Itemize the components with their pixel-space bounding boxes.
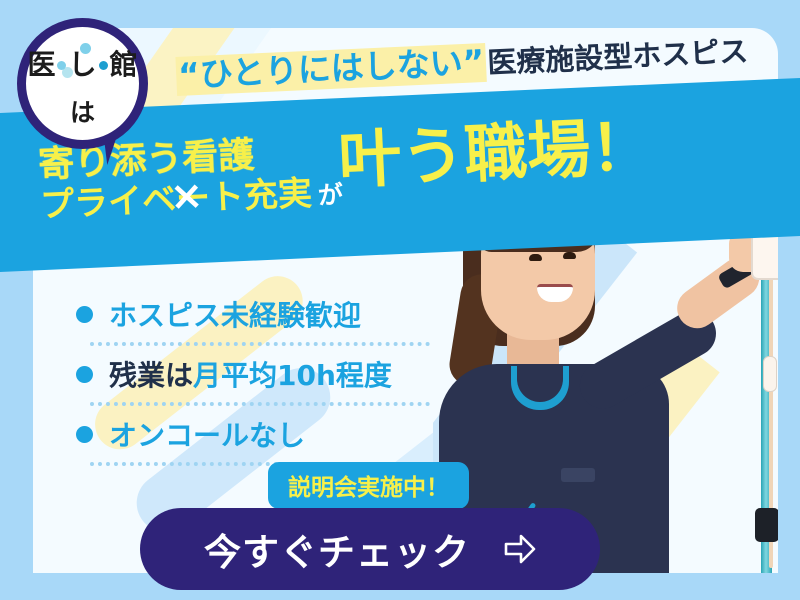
tube-tip xyxy=(699,572,724,573)
chest-pocket xyxy=(561,468,595,482)
feature-list: ホスピス未経験歓迎 残業は月平均10h程度 オンコールなし xyxy=(76,286,466,466)
list-item: オンコールなし xyxy=(76,406,466,462)
drip-chamber xyxy=(763,356,777,392)
logo-kanji-2: し xyxy=(68,51,96,79)
logo-kanji-1: 医 xyxy=(27,51,55,79)
list-item: ホスピス未経験歓迎 xyxy=(76,286,466,342)
seminar-badge: 説明会実施中！ xyxy=(268,462,469,509)
list-item-highlight: 月平均10h程度 xyxy=(193,359,392,392)
eye xyxy=(529,254,542,261)
logo-kanji-3: 館 xyxy=(110,51,138,79)
arrow-right-outline-icon xyxy=(504,534,536,564)
logo-suffix: は xyxy=(26,93,139,129)
logo-dot-icon xyxy=(57,61,66,70)
bullet-dot-icon xyxy=(76,426,93,443)
list-item-label: ホスピス未経験歓迎 xyxy=(109,294,361,334)
eye xyxy=(563,252,576,259)
check-now-button[interactable]: 今すぐチェック xyxy=(140,508,600,590)
bullet-dot-icon xyxy=(76,366,93,383)
list-item-prefix: 残業は xyxy=(109,359,193,392)
headline-emphasis: 叶う職場！ xyxy=(337,115,655,192)
list-item: 残業は月平均10h程度 xyxy=(76,346,466,402)
logo-dot-icon xyxy=(99,61,108,70)
brand-logo: 医 し 館 は xyxy=(17,18,148,149)
advertisement-banner: “ひとりにはしない”医療施設型ホスピス 寄り添う看護 プライベート充実 が × … xyxy=(0,0,800,600)
list-item-label: オンコールなし xyxy=(109,414,305,454)
list-item-label: 残業は月平均10h程度 xyxy=(109,354,392,394)
cross-symbol: × xyxy=(169,175,204,216)
list-item-highlight: ホスピス未経験歓迎 xyxy=(109,299,361,332)
check-now-label: 今すぐチェック xyxy=(204,522,470,576)
bullet-dot-icon xyxy=(76,306,93,323)
pole-clamp xyxy=(755,508,778,542)
list-item-highlight: オンコールなし xyxy=(109,419,305,452)
logo-text-row: 医 し 館 xyxy=(26,51,139,79)
